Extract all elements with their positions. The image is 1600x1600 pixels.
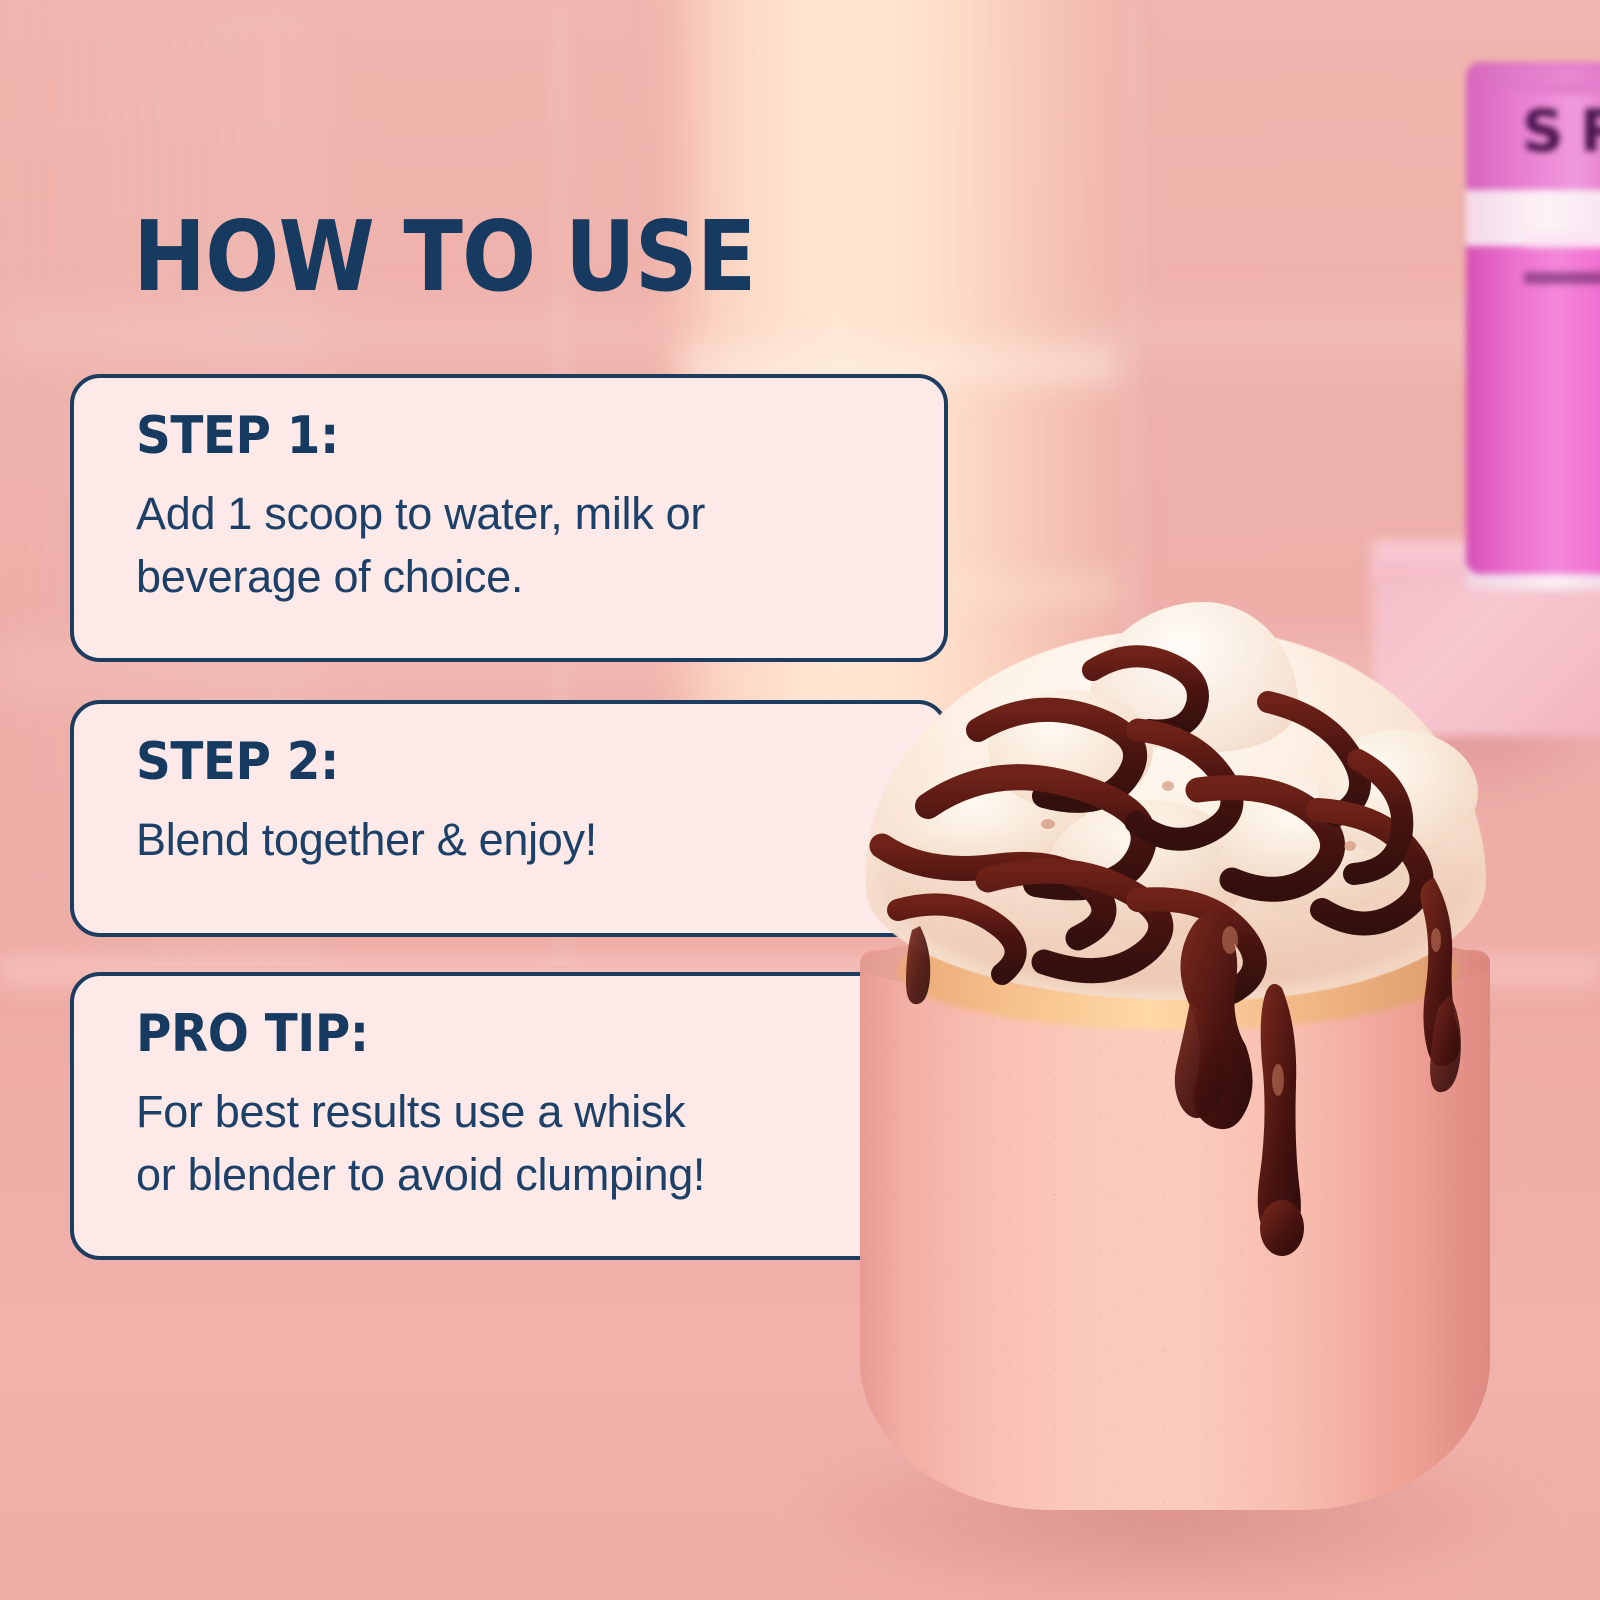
pro-tip-heading: PRO TIP: [136,1006,887,1062]
chocolate-drizzle [838,610,1538,1600]
step-1-body: Add 1 scoop to water, milk or beverage o… [136,482,944,608]
step-2-body: Blend together & enjoy! [136,808,944,871]
step-2-heading: STEP 2: [136,734,887,790]
hot-chocolate-mug [838,610,1538,1600]
chocolate-drip-bead [1260,1200,1304,1256]
chocolate-drip-left [906,926,930,1004]
step-1-heading: STEP 1: [136,408,887,464]
step-2-card: STEP 2: Blend together & enjoy! [70,700,948,937]
pro-tip-body: For best results use a whisk or blender … [136,1080,944,1206]
step-1-card: STEP 1: Add 1 scoop to water, milk or be… [70,374,948,662]
pro-tip-card: PRO TIP: For best results use a whisk or… [70,972,948,1260]
page-title: HOW TO USE [133,207,756,307]
